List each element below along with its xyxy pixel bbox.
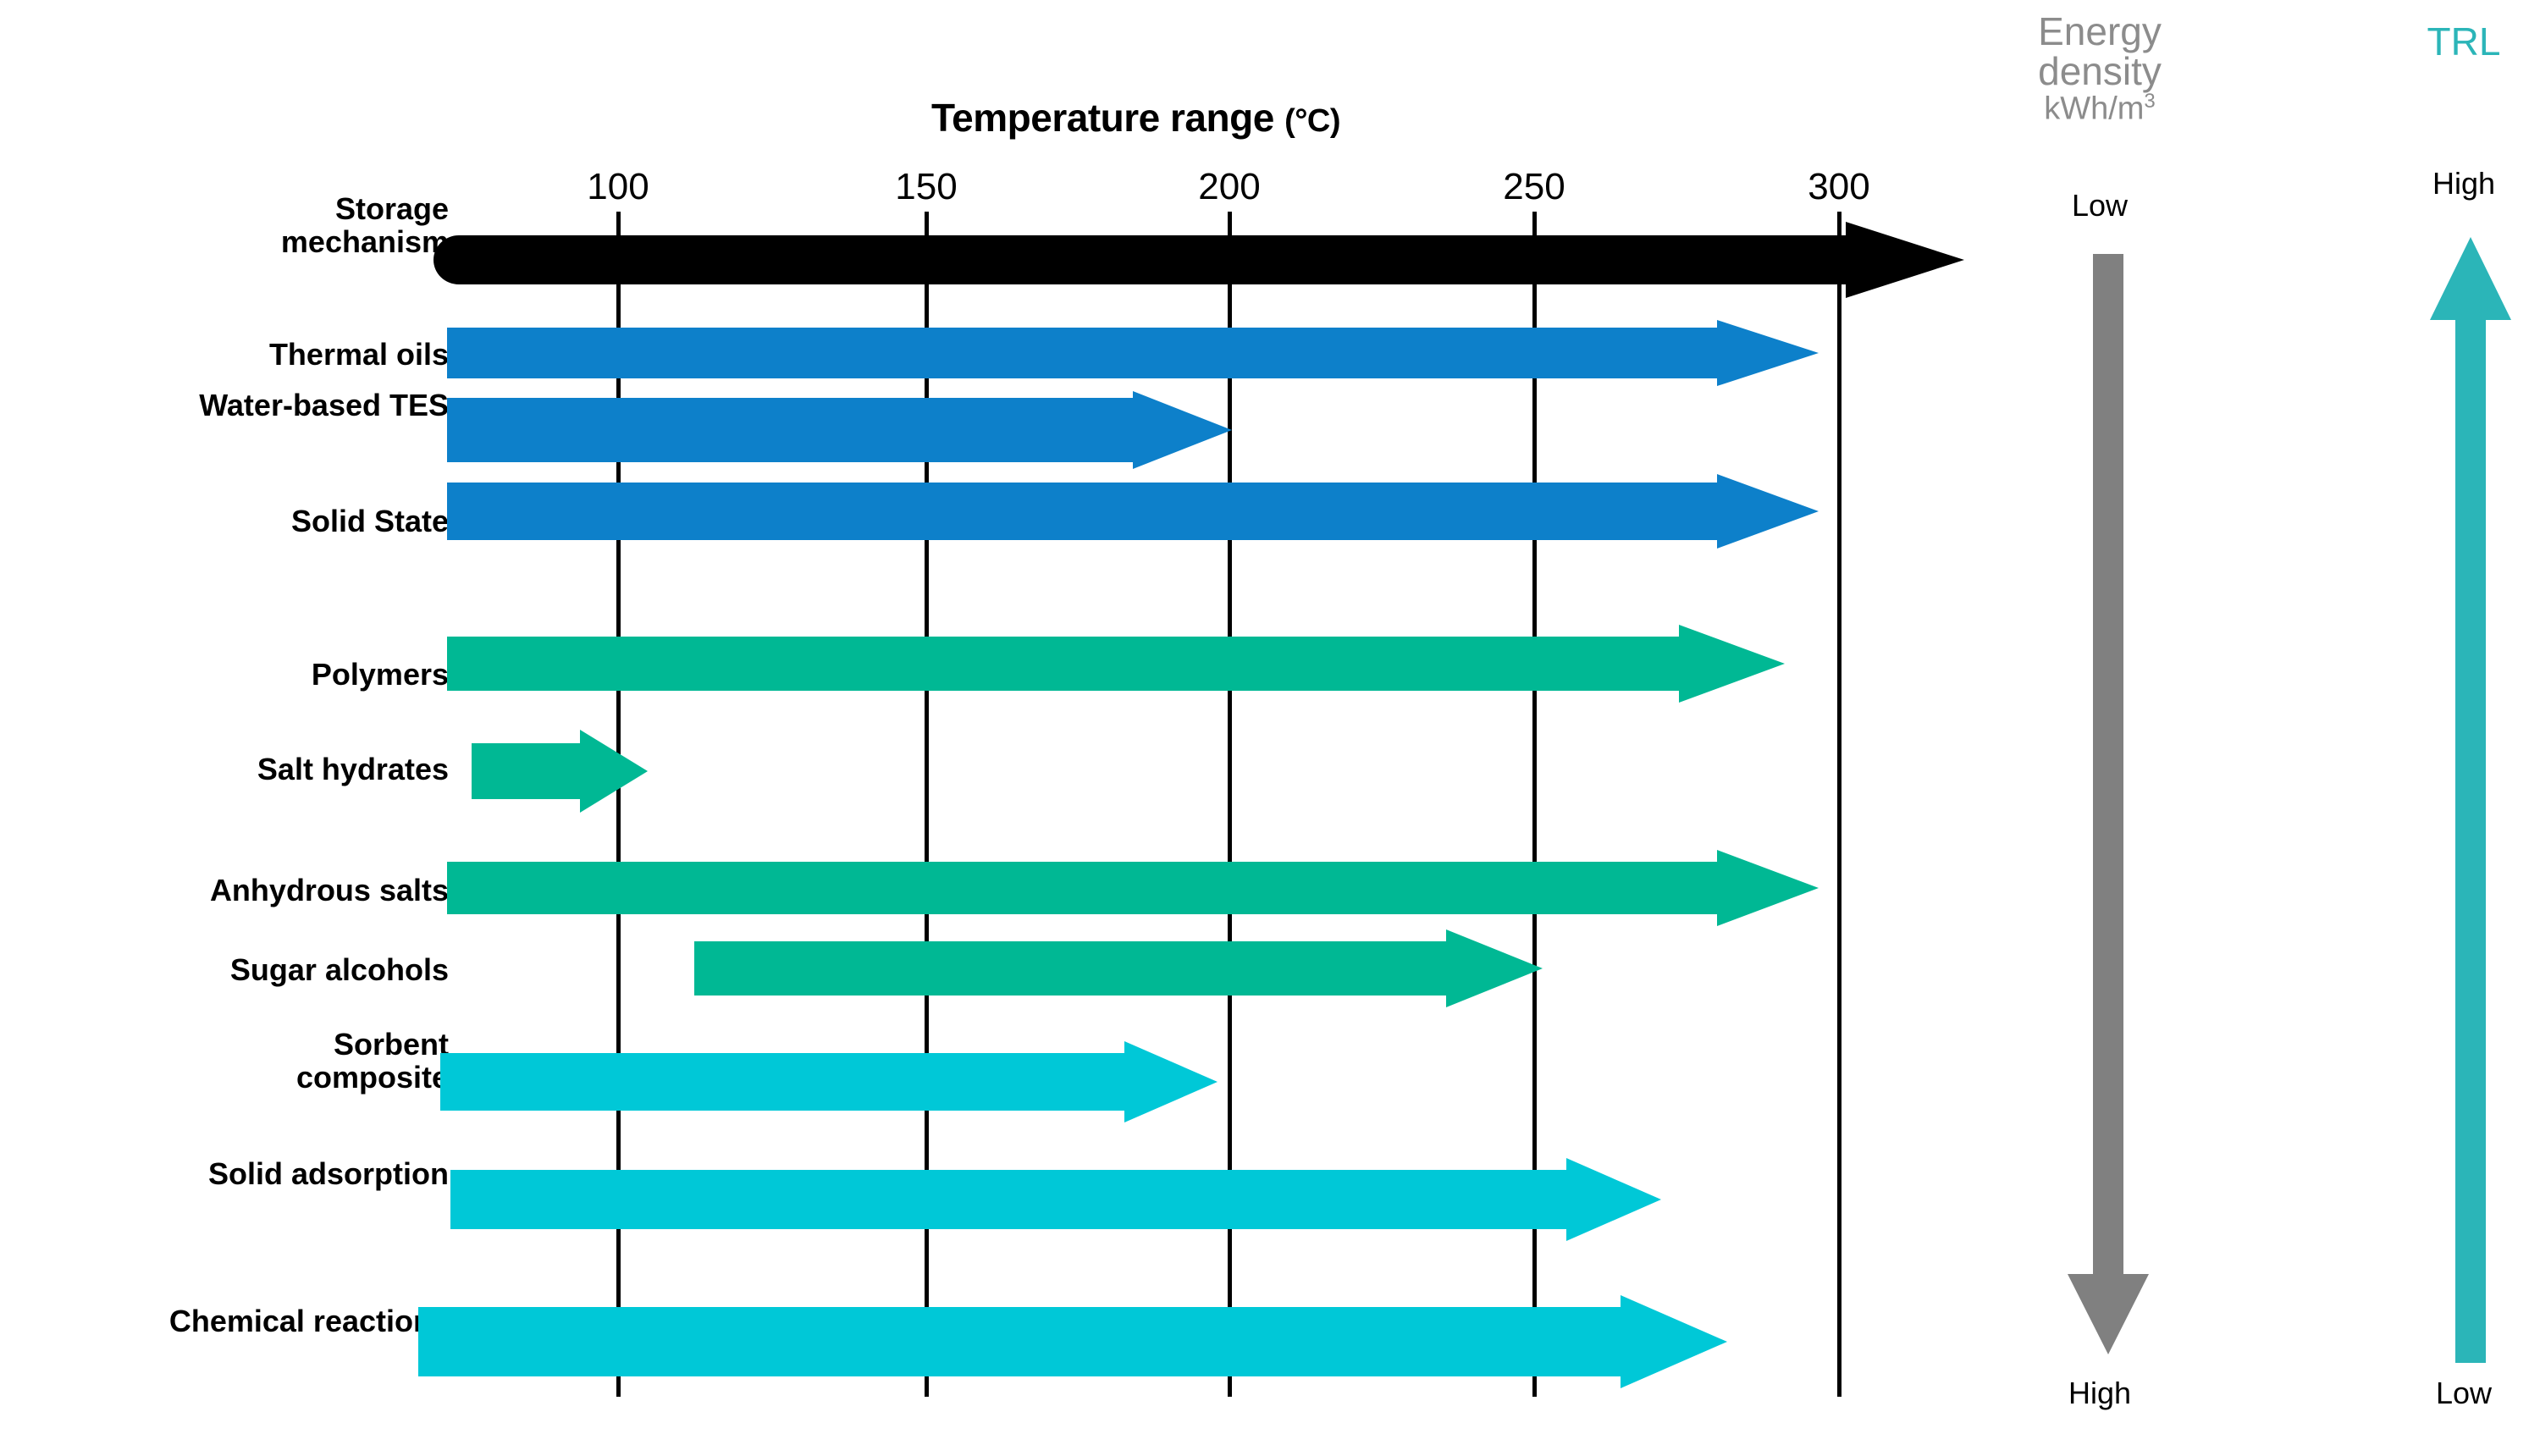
energy-density-line2: density [1973,52,2227,91]
axis-title: Temperature range (°C) [931,95,1609,141]
row-label-sorbent-composite-line2: composite [0,1062,449,1095]
bar-sugar-alcohols [694,929,1543,1007]
bar-chemical-reactions [418,1295,1727,1388]
bar-water-based-tes [447,391,1232,469]
row-label-polymers: Polymers [0,659,457,692]
trl-bottom-label: Low [2388,1376,2540,1411]
axis-title-main: Temperature range [931,96,1274,140]
energy-density-units: kWh/m3 [1973,91,2227,125]
trl-arrow-up-icon [2428,237,2513,1363]
energy-density-legend-title: Energy density kWh/m3 [1973,12,2227,125]
gridline-300 [1837,212,1841,1397]
energy-density-top-label: Low [1973,188,2227,223]
trl-legend-title: TRL [2388,22,2540,62]
row-label-solid-state: Solid State [0,505,457,538]
row-label-storage-mechanism-line2: mechanism [0,226,449,259]
bar-salt-hydrates [472,730,648,813]
trl-top-label: High [2388,166,2540,201]
row-label-salt-hydrates: Salt hydrates [0,753,457,786]
tick-label-300: 300 [1771,166,1907,208]
bar-anhydrous-salts [447,850,1819,926]
row-label-storage-mechanism: Storage mechanism [0,193,457,259]
bar-solid-state [447,474,1819,549]
row-label-sorbent-composite-line1: Sorbent [0,1029,449,1062]
row-label-storage-mechanism-line1: Storage [0,193,449,226]
axis-title-unit: (°C) [1284,103,1340,139]
row-label-solid-adsorption: Solid adsorption [0,1158,457,1191]
tick-label-250: 250 [1466,166,1602,208]
bar-thermal-oils [447,320,1819,386]
row-label-water-based-tes: Water-based TES [0,389,457,422]
row-label-column: Storage mechanism Thermal oils Water-bas… [0,0,457,1456]
row-label-thermal-oils: Thermal oils [0,339,457,372]
axis-arrow [440,222,1964,298]
energy-density-line1: Energy [1973,12,2227,52]
tick-label-200: 200 [1162,166,1297,208]
energy-density-arrow-down-icon [2066,254,2151,1354]
row-label-sorbent-composite: Sorbent composite [0,1029,457,1095]
row-label-anhydrous-salts: Anhydrous salts [0,874,457,907]
bar-polymers [447,625,1785,703]
row-label-sugar-alcohols: Sugar alcohols [0,954,457,987]
energy-density-bottom-label: High [1973,1376,2227,1411]
bar-solid-adsorption [450,1158,1661,1241]
tick-label-100: 100 [550,166,686,208]
bar-sorbent-composite [440,1041,1218,1122]
tick-label-150: 150 [859,166,994,208]
row-label-chemical-reactions: Chemical reactions [0,1305,457,1338]
